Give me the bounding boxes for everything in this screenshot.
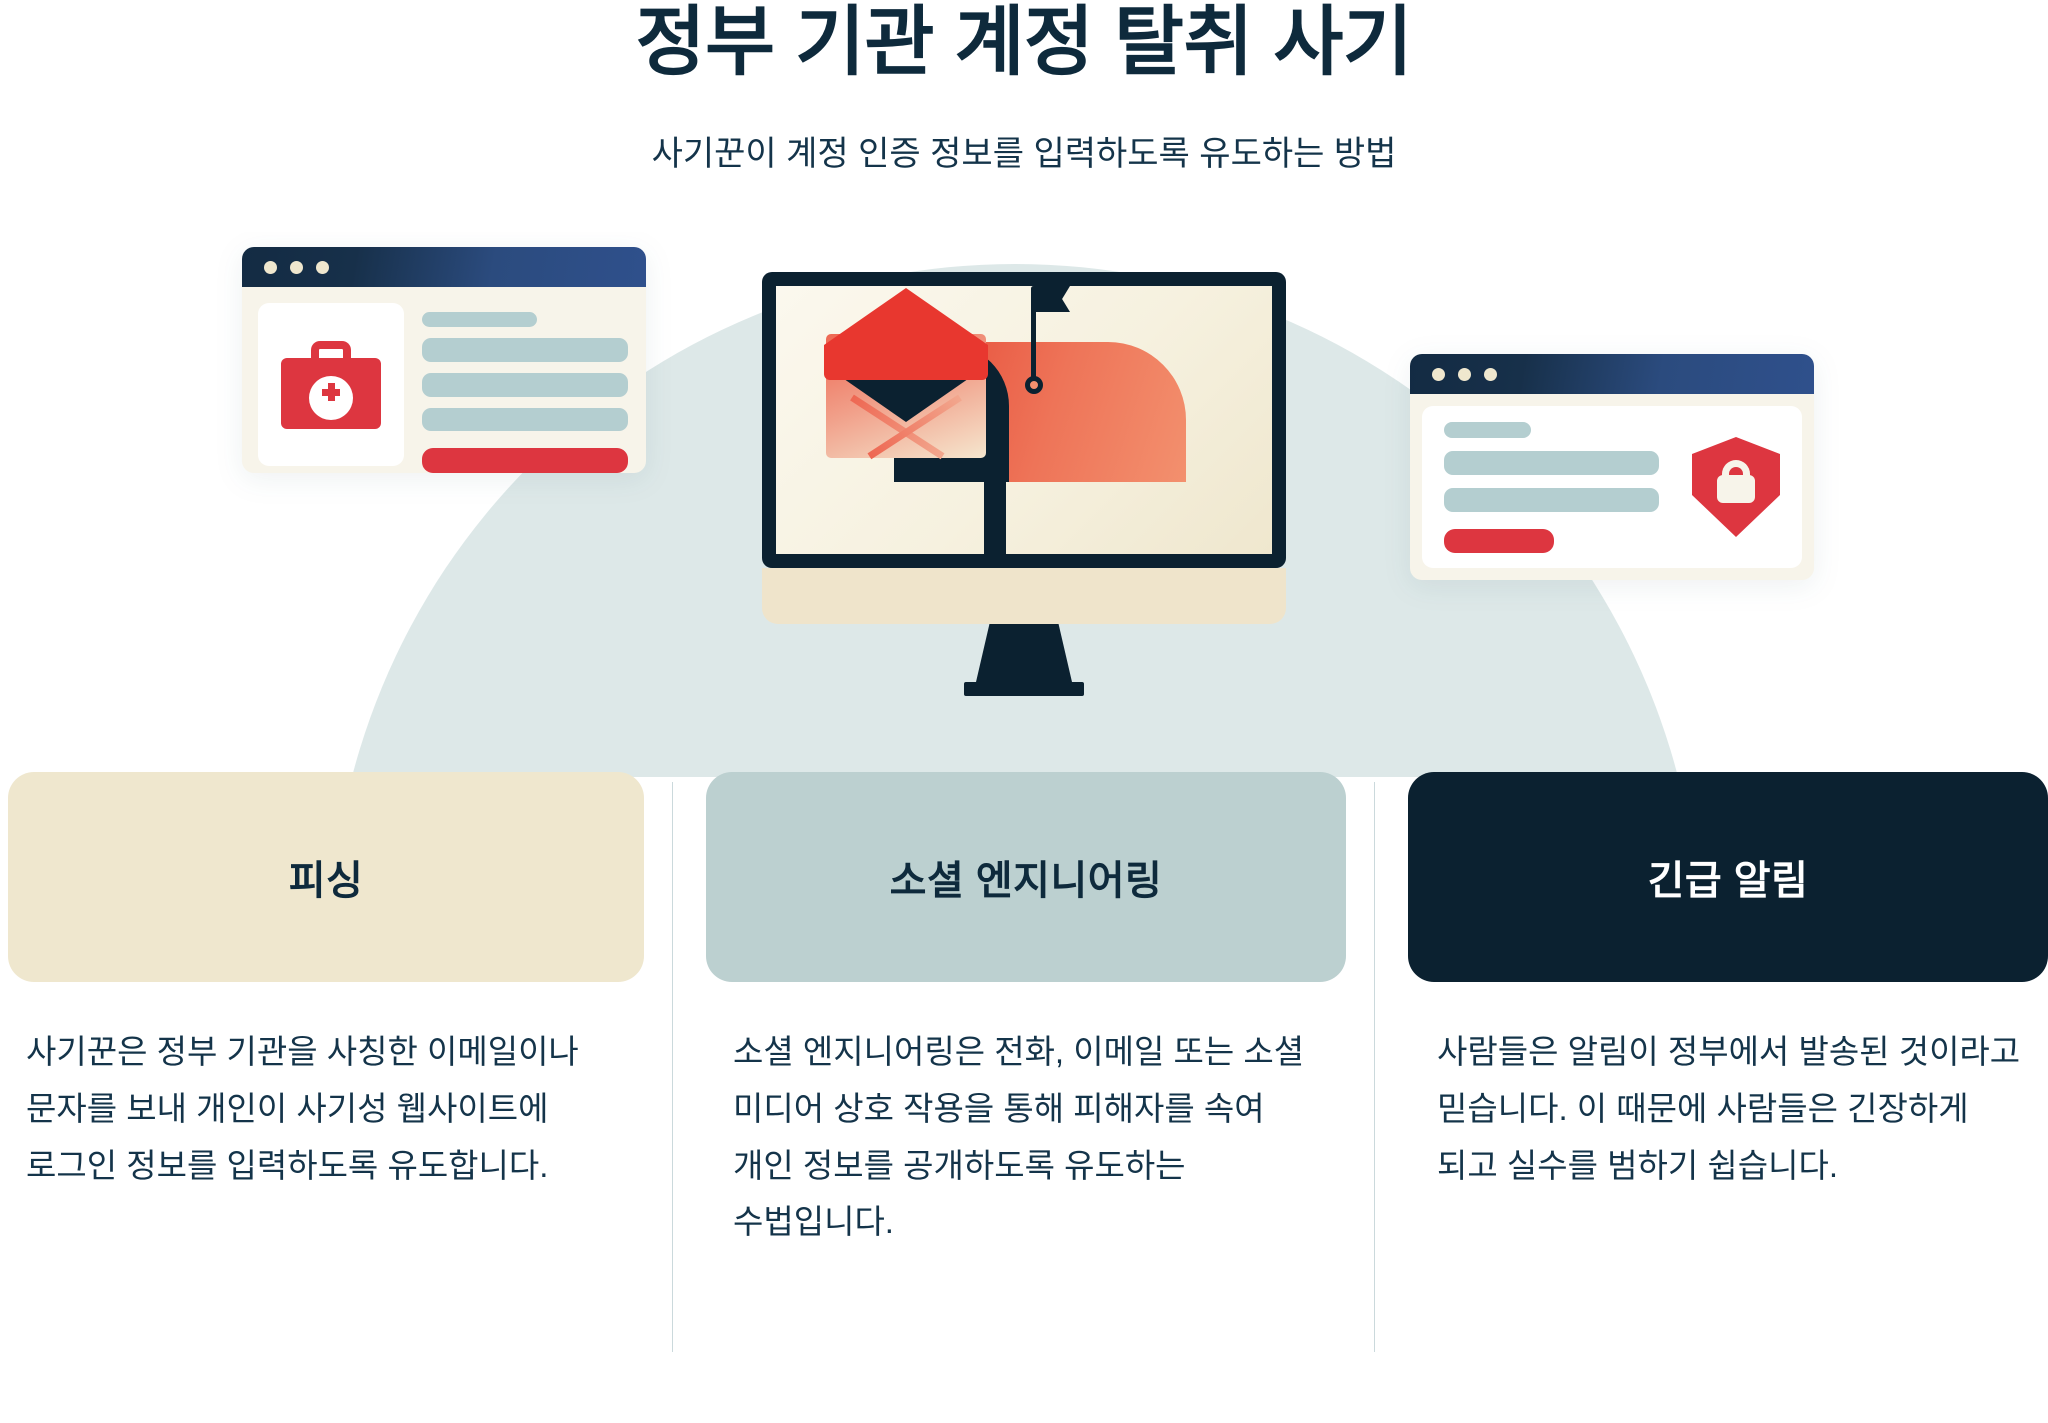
- card-label: 피싱: [289, 848, 364, 906]
- mailbox-flag-icon: [1034, 286, 1070, 312]
- text-bar: [422, 338, 628, 362]
- text-bar: [422, 373, 628, 397]
- text-bar: [422, 312, 537, 327]
- text-bar: [1444, 488, 1659, 512]
- text-bar: [1444, 451, 1659, 475]
- mailbox-post: [984, 476, 1006, 554]
- window-dot-icon: [316, 261, 329, 274]
- text-bar: [422, 408, 628, 432]
- monitor-chin: [762, 568, 1286, 624]
- column-divider: [672, 782, 673, 1352]
- browser-content: [1410, 394, 1814, 580]
- category-cards: 피싱 소셜 엔지니어링 긴급 알림: [0, 772, 2048, 982]
- description-urgent-alert: 사람들은 알림이 정부에서 발송된 것이라고 믿습니다. 이 때문에 사람들은 …: [1437, 1024, 2029, 1194]
- card-label: 소셜 엔지니어링: [890, 848, 1163, 906]
- browser-window-phishing: [242, 247, 646, 473]
- monitor-illustration: [762, 272, 1286, 696]
- page-subtitle: 사기꾼이 계정 인증 정보를 입력하도록 유도하는 방법: [0, 132, 2048, 178]
- description-social-engineering: 소셜 엔지니어링은 전화, 이메일 또는 소셜 미디어 상호 작용을 통해 피해…: [733, 1024, 1325, 1251]
- illustration-stage: [0, 232, 2048, 777]
- cta-button[interactable]: [422, 448, 628, 473]
- icon-panel: [258, 303, 404, 466]
- monitor-stand: [976, 624, 1072, 682]
- window-dot-icon: [1458, 368, 1471, 381]
- mailbox-flag-knob: [1025, 376, 1043, 394]
- cta-button[interactable]: [1444, 529, 1554, 553]
- monitor-bezel: [762, 272, 1286, 568]
- text-bar: [1444, 422, 1531, 438]
- card-urgent-alert[interactable]: 긴급 알림: [1408, 772, 2048, 982]
- page-title: 정부 기관 계정 탈취 사기: [0, 0, 2048, 91]
- infographic-page: 정부 기관 계정 탈취 사기 사기꾼이 계정 인증 정보를 입력하도록 유도하는…: [0, 0, 2048, 1423]
- browser-content: [242, 287, 646, 473]
- browser-window-alert: [1410, 354, 1814, 580]
- window-dot-icon: [290, 261, 303, 274]
- window-dot-icon: [264, 261, 277, 274]
- icon-panel: [1422, 406, 1802, 568]
- column-divider: [1374, 782, 1375, 1352]
- card-social-engineering[interactable]: 소셜 엔지니어링: [706, 772, 1346, 982]
- browser-title-bar: [1410, 354, 1814, 394]
- window-dot-icon: [1432, 368, 1445, 381]
- envelope-icon: [826, 334, 986, 458]
- card-phishing[interactable]: 피싱: [8, 772, 644, 982]
- first-aid-kit-icon: [281, 341, 381, 429]
- placeholder-text-lines: [422, 303, 628, 473]
- browser-title-bar: [242, 247, 646, 287]
- window-dot-icon: [1484, 368, 1497, 381]
- placeholder-text-lines: [1444, 422, 1678, 553]
- shield-lock-icon: [1692, 437, 1780, 537]
- card-label: 긴급 알림: [1648, 848, 1809, 906]
- monitor-screen: [776, 286, 1272, 554]
- monitor-base: [964, 682, 1084, 696]
- description-phishing: 사기꾼은 정부 기관을 사칭한 이메일이나 문자를 보내 개인이 사기성 웹사이…: [26, 1024, 626, 1194]
